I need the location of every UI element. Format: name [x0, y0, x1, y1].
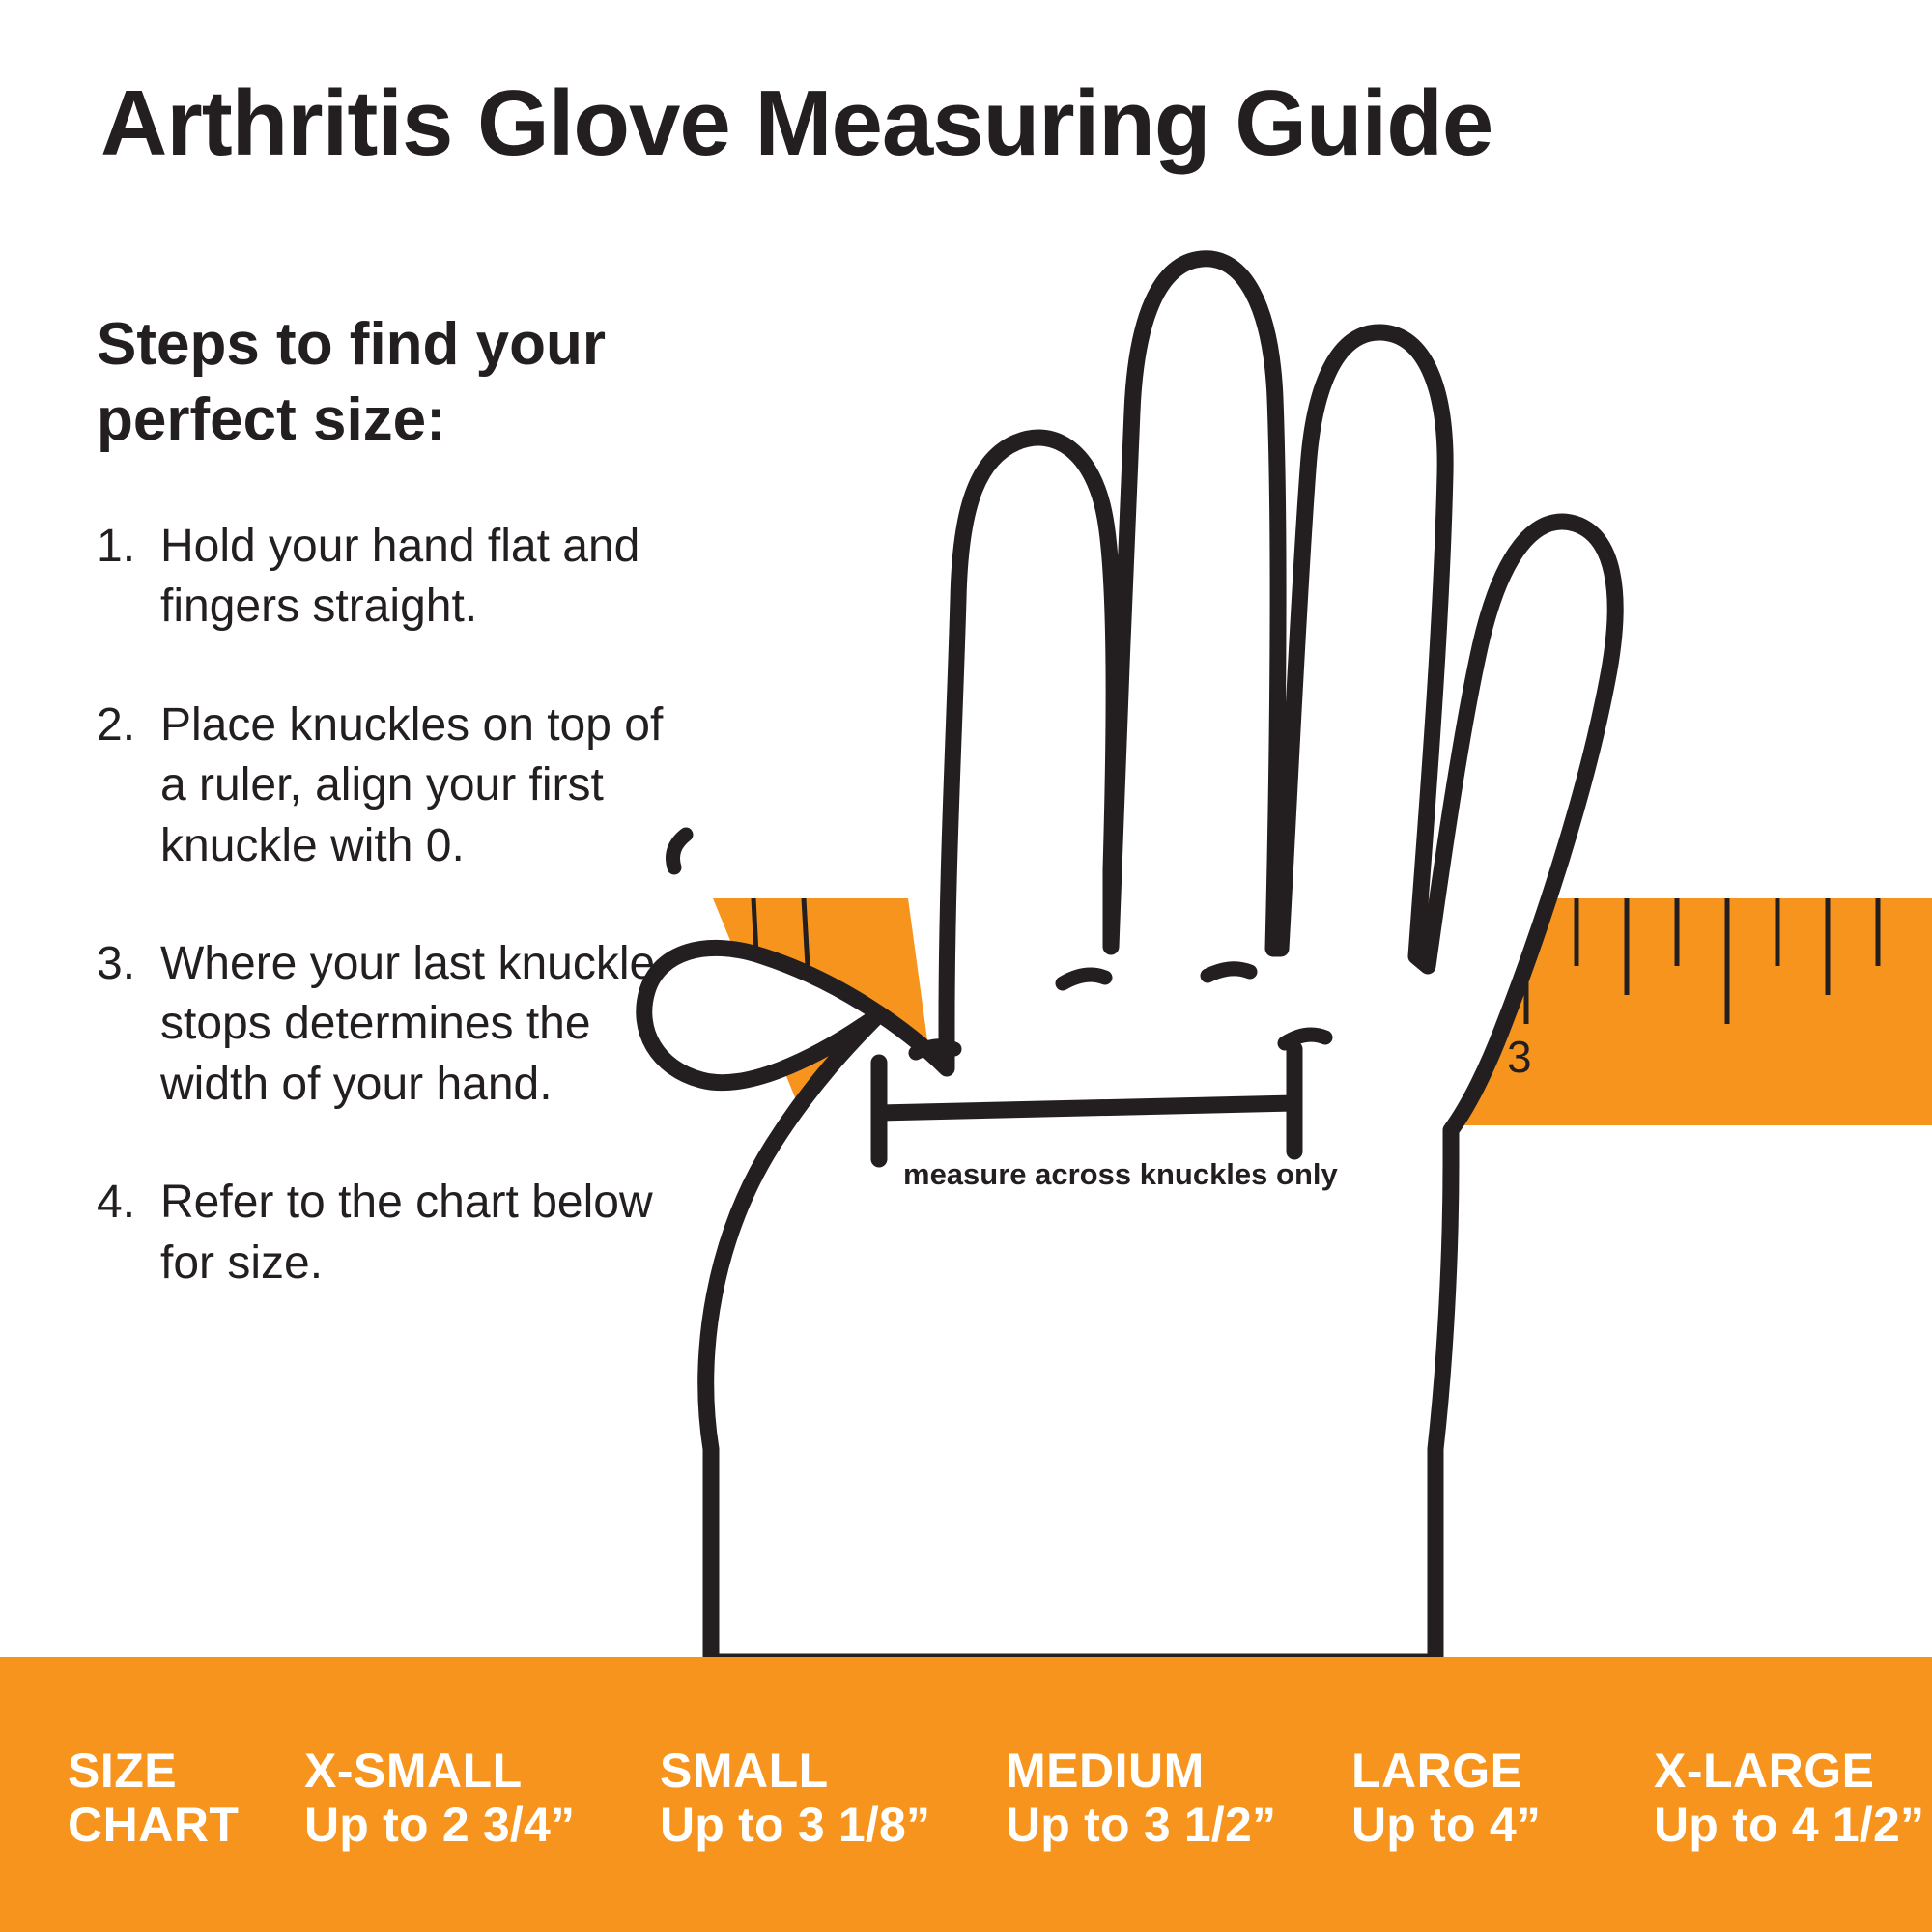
size-chart-title-line2: CHART — [68, 1798, 304, 1852]
size-chart-title: SIZE CHART — [68, 1744, 304, 1852]
size-range-large: Up to 4” — [1351, 1798, 1636, 1852]
size-column-x-small: X-SMALL Up to 2 3/4” — [304, 1744, 660, 1852]
hand-ruler-illustration: 0 3 — [522, 193, 1932, 1662]
hand-outline-icon — [644, 259, 1615, 1662]
step-number-2: 2. — [97, 696, 160, 755]
size-range-medium: Up to 3 1/2” — [1006, 1798, 1334, 1852]
page-title: Arthritis Glove Measuring Guide — [100, 75, 1492, 173]
size-chart-title-line1: SIZE — [68, 1744, 304, 1798]
ruler-three-label: 3 — [1507, 1032, 1532, 1082]
size-name-x-small: X-SMALL — [304, 1744, 642, 1798]
size-name-small: SMALL — [660, 1744, 988, 1798]
size-column-x-large: X-LARGE Up to 4 1/2” — [1654, 1744, 1932, 1852]
size-name-medium: MEDIUM — [1006, 1744, 1334, 1798]
step-number-4: 4. — [97, 1173, 160, 1233]
step-number-3: 3. — [97, 934, 160, 994]
size-range-x-small: Up to 2 3/4” — [304, 1798, 642, 1852]
size-name-large: LARGE — [1351, 1744, 1636, 1798]
size-range-small: Up to 3 1/8” — [660, 1798, 988, 1852]
measure-caption: measure across knuckles only — [903, 1157, 1339, 1191]
size-chart-banner: SIZE CHART X-SMALL Up to 2 3/4” SMALL Up… — [0, 1657, 1932, 1932]
step-number-1: 1. — [97, 517, 160, 577]
size-range-x-large: Up to 4 1/2” — [1654, 1798, 1932, 1852]
size-name-x-large: X-LARGE — [1654, 1744, 1932, 1798]
size-column-large: LARGE Up to 4” — [1351, 1744, 1654, 1852]
size-column-medium: MEDIUM Up to 3 1/2” — [1006, 1744, 1351, 1852]
size-column-small: SMALL Up to 3 1/8” — [660, 1744, 1006, 1852]
